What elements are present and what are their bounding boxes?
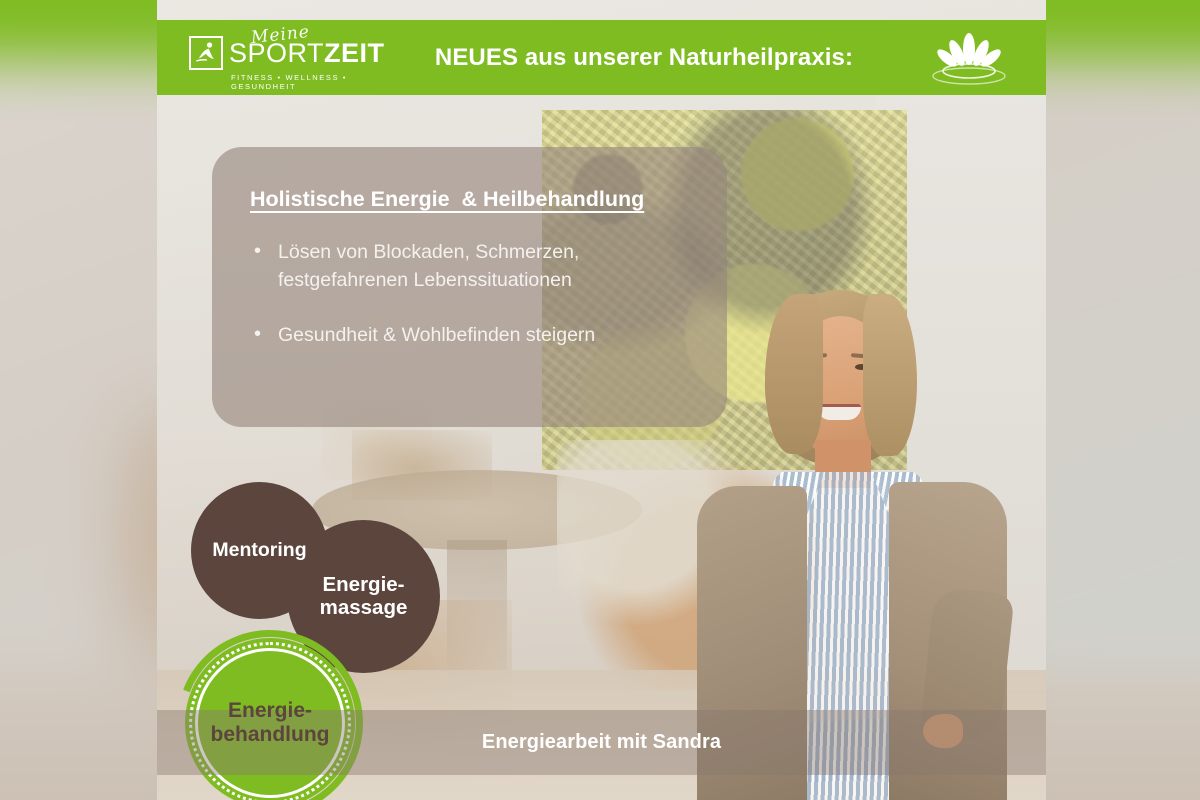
card-bullet-2: Gesundheit & Wohlbefinden steigern — [250, 321, 695, 349]
badge-mentoring-label: Mentoring — [212, 540, 306, 562]
header-bar: Meine SPORTZEIT FITNESS • WELLNESS • GES… — [157, 20, 1046, 95]
mouth — [817, 404, 861, 420]
card-bullet-1: Lösen von Blockaden, Schmerzen, festgefa… — [250, 238, 695, 295]
header-title: NEUES aus unserer Naturheilpraxis: — [404, 44, 924, 72]
caption-text: Energiearbeit mit Sandra — [482, 731, 721, 754]
poster-stage: Meine SPORTZEIT FITNESS • WELLNESS • GES… — [0, 0, 1200, 800]
card-bullet-list: Lösen von Blockaden, Schmerzen, festgefa… — [250, 238, 695, 349]
logo-tagline: FITNESS • WELLNESS • GESUNDHEIT — [231, 73, 404, 91]
logo-word-zeit: ZEIT — [324, 38, 385, 68]
badge-energiemassage-label: Energie-massage — [320, 574, 408, 620]
hair-strand-right — [863, 294, 917, 456]
card-title: Holistische Energie & Heilbehandlung — [250, 187, 695, 212]
badge-energiebehandlung-label: Energie-behandlung — [211, 699, 330, 746]
hair-strand-left — [765, 294, 823, 454]
lotus-flower-icon — [924, 27, 1014, 89]
running-person-icon — [189, 36, 223, 70]
content-card: Holistische Energie & Heilbehandlung Lös… — [212, 147, 727, 427]
brand-logo[interactable]: Meine SPORTZEIT FITNESS • WELLNESS • GES… — [189, 27, 404, 89]
poster-panel: Meine SPORTZEIT FITNESS • WELLNESS • GES… — [157, 0, 1046, 800]
